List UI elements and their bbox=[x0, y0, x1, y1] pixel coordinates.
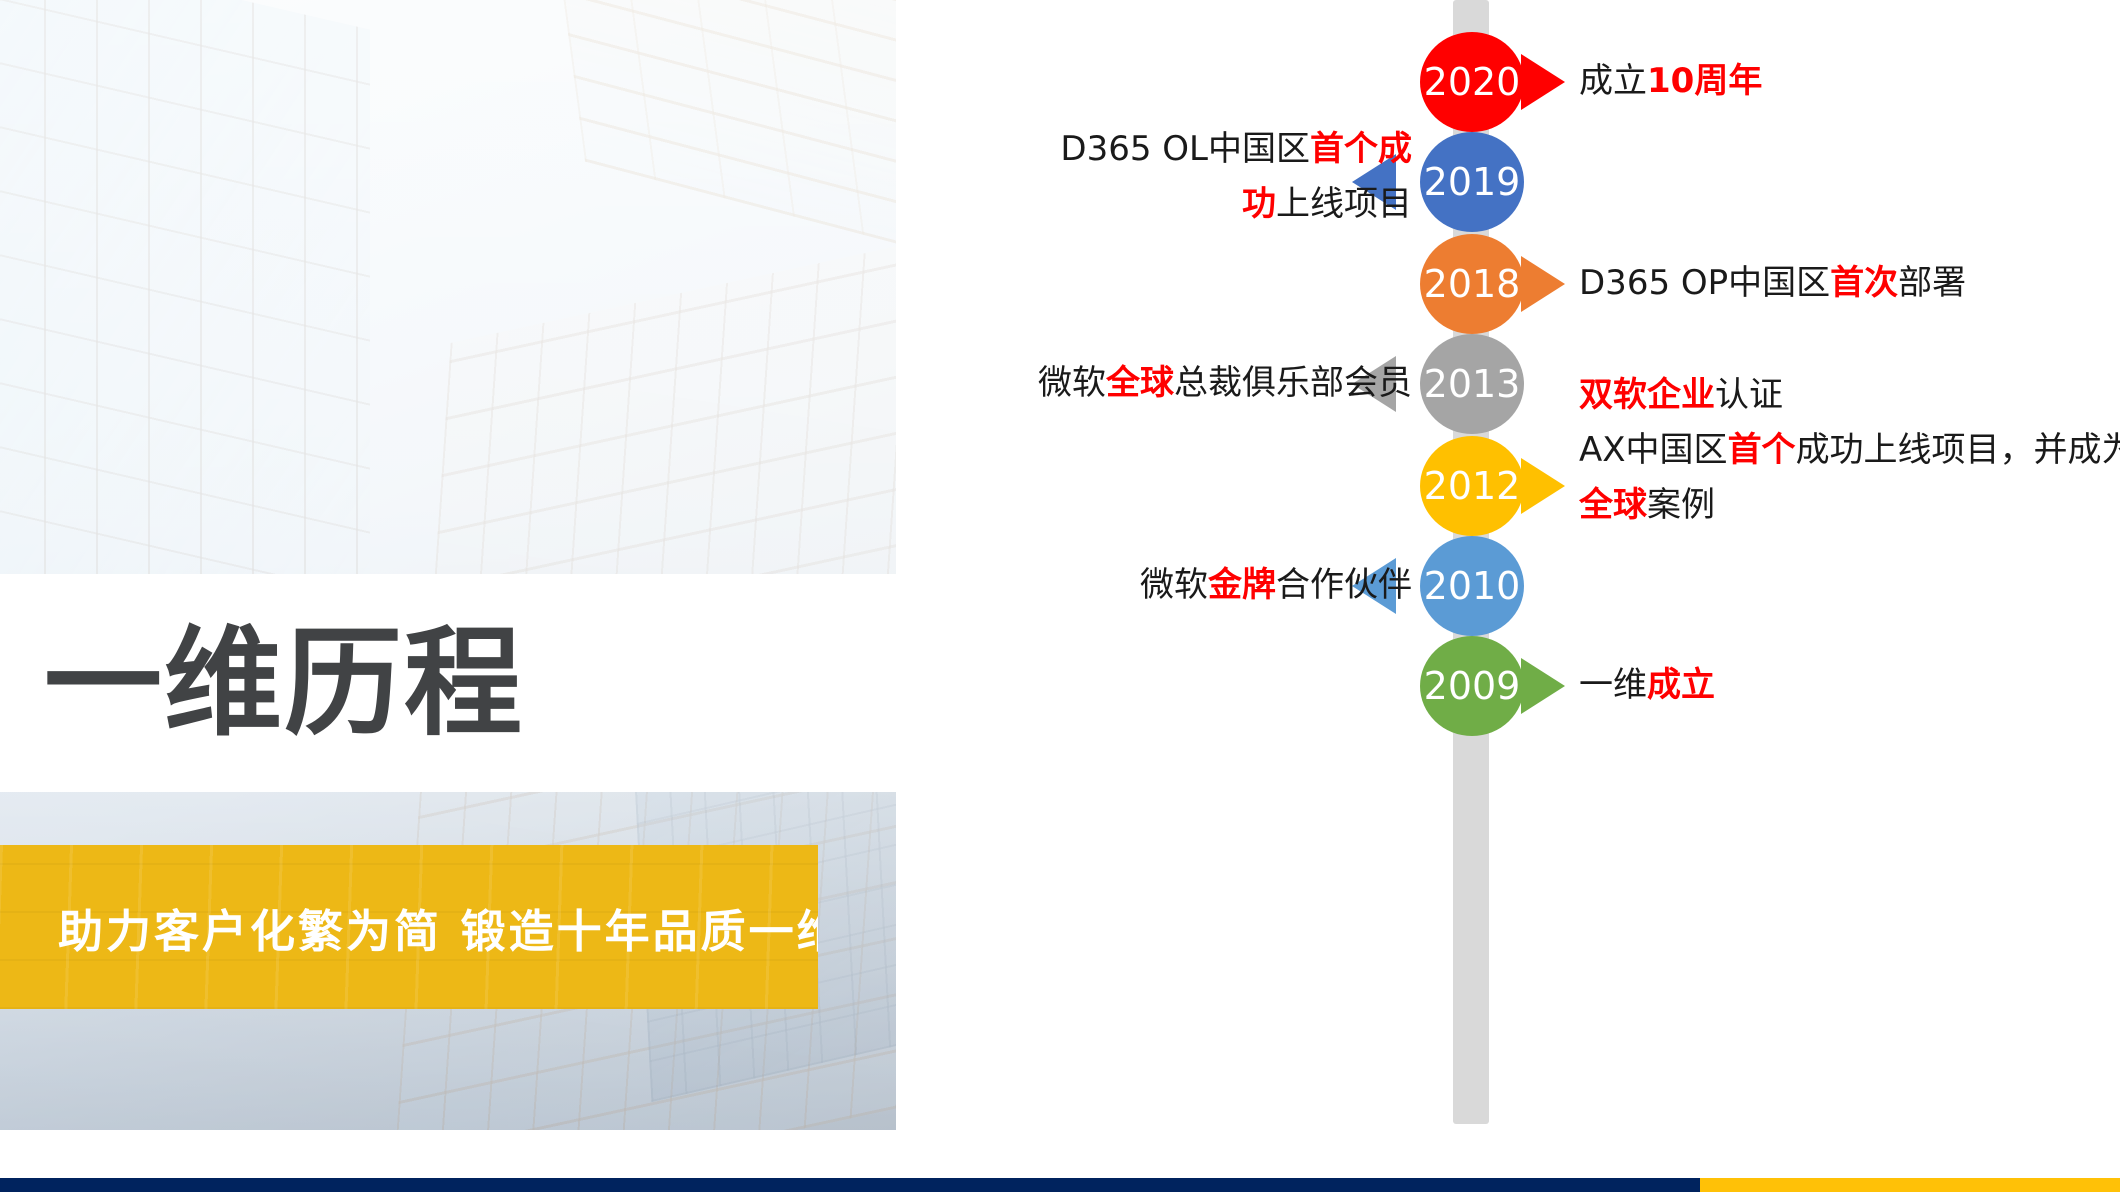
arrow-right-icon bbox=[1521, 458, 1565, 514]
timeline-event-line: 微软全球总裁俱乐部会员 bbox=[1038, 356, 1412, 411]
timeline-event-label: 一维成立 bbox=[1579, 658, 1715, 713]
timeline-year-bubble[interactable]: 2010 bbox=[1420, 536, 1524, 636]
timeline-event-line: 成立10周年 bbox=[1579, 54, 1762, 109]
arrow-right-icon bbox=[1521, 658, 1565, 714]
timeline-year-bubble[interactable]: 2018 bbox=[1420, 234, 1524, 334]
timeline-event-line: AX中国区首个成功上线项目，并成为 bbox=[1579, 423, 2120, 478]
plain-text: AX中国区 bbox=[1579, 430, 1728, 470]
highlight-text: 全球 bbox=[1579, 485, 1647, 525]
plain-text: 微软 bbox=[1038, 363, 1106, 403]
footer-bar-navy bbox=[0, 1178, 1700, 1192]
plain-text: 成功上线项目，并成为 bbox=[1796, 430, 2120, 470]
timeline-year-bubble[interactable]: 2013 bbox=[1420, 334, 1524, 434]
arrow-right-icon bbox=[1521, 256, 1565, 312]
plain-text: 微软 bbox=[1140, 565, 1208, 605]
plain-text: 部署 bbox=[1898, 263, 1966, 303]
timeline-event-label: D365 OL中国区首个成功上线项目 bbox=[772, 122, 1412, 232]
timeline-event-line: D365 OL中国区首个成 bbox=[772, 122, 1412, 177]
timeline-event-label: D365 OP中国区首次部署 bbox=[1579, 256, 1966, 311]
page-title: 一维历程 bbox=[44, 624, 524, 742]
highlight-text: 首次 bbox=[1830, 263, 1898, 303]
timeline-event-label: 微软全球总裁俱乐部会员 bbox=[1038, 356, 1412, 411]
plain-text: 认证 bbox=[1715, 375, 1783, 415]
timeline-year-bubble[interactable]: 2020 bbox=[1420, 32, 1524, 132]
timeline-event-line: 微软金牌合作伙伴 bbox=[1140, 558, 1412, 613]
footer-bar-gold bbox=[1700, 1178, 2120, 1192]
timeline-event-line: 功上线项目 bbox=[772, 177, 1412, 232]
plain-text: D365 OL中国区 bbox=[1060, 129, 1310, 169]
highlight-text: 10周年 bbox=[1647, 61, 1762, 101]
timeline-event-label: 成立10周年 bbox=[1579, 54, 1762, 109]
plain-text: 合作伙伴 bbox=[1276, 565, 1412, 605]
timeline: 2020成立10周年2019D365 OL中国区首个成功上线项目2018D365… bbox=[896, 0, 2120, 1130]
timeline-event-label: 双软企业认证AX中国区首个成功上线项目，并成为全球案例 bbox=[1579, 368, 2120, 533]
left-cover-panel: 一维历程 助力客户化繁为简 锻造十年品质一维 bbox=[0, 0, 896, 1130]
plain-text: 一维 bbox=[1579, 665, 1647, 705]
plain-text: D365 OP中国区 bbox=[1579, 263, 1830, 303]
title-band: 一维历程 bbox=[0, 574, 896, 792]
timeline-year-bubble[interactable]: 2012 bbox=[1420, 436, 1524, 536]
footer-bar bbox=[0, 1178, 2120, 1192]
plain-text: 成立 bbox=[1579, 61, 1647, 101]
highlight-text: 成立 bbox=[1647, 665, 1715, 705]
highlight-text: 金牌 bbox=[1208, 565, 1276, 605]
arrow-right-icon bbox=[1521, 54, 1565, 110]
timeline-event-line: 全球案例 bbox=[1579, 478, 2120, 533]
highlight-text: 功 bbox=[1242, 184, 1276, 224]
plain-text: 上线项目 bbox=[1276, 184, 1412, 224]
timeline-event-line: D365 OP中国区首次部署 bbox=[1579, 256, 1966, 311]
timeline-year-bubble[interactable]: 2019 bbox=[1420, 132, 1524, 232]
slogan-text: 助力客户化繁为简 锻造十年品质一维 bbox=[58, 895, 818, 960]
plain-text: 案例 bbox=[1647, 485, 1715, 525]
highlight-text: 首个 bbox=[1728, 430, 1796, 470]
timeline-event-line: 一维成立 bbox=[1579, 658, 1715, 713]
highlight-text: 首个成 bbox=[1310, 129, 1412, 169]
timeline-event-label: 微软金牌合作伙伴 bbox=[1140, 558, 1412, 613]
plain-text: 总裁俱乐部会员 bbox=[1174, 363, 1412, 403]
slogan-band: 助力客户化繁为简 锻造十年品质一维 bbox=[0, 845, 818, 1009]
highlight-text: 双软企业 bbox=[1579, 375, 1715, 415]
timeline-year-bubble[interactable]: 2009 bbox=[1420, 636, 1524, 736]
timeline-event-line: 双软企业认证 bbox=[1579, 368, 2120, 423]
highlight-text: 全球 bbox=[1106, 363, 1174, 403]
